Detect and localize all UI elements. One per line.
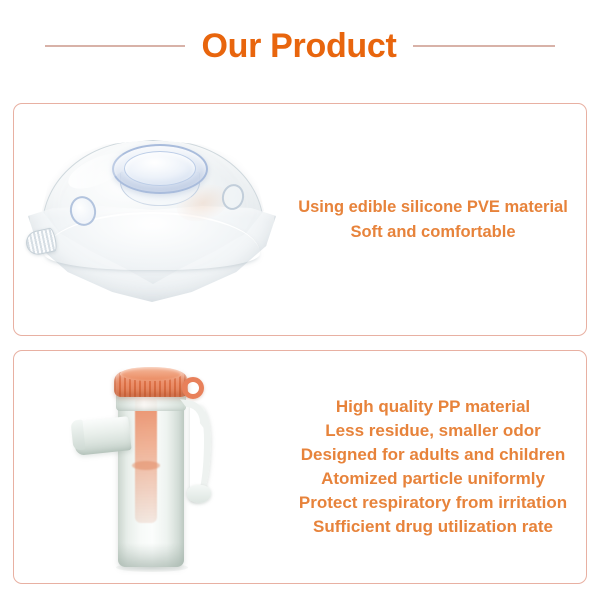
feature-line: High quality PP material	[286, 395, 580, 419]
product-image-mask	[14, 104, 286, 335]
face-mask-illustration	[26, 132, 278, 310]
feature-line: Designed for adults and children	[286, 443, 580, 467]
feature-line: Atomized particle uniformly	[286, 467, 580, 491]
page-header: Our Product	[0, 20, 600, 72]
feature-line: Soft and comfortable	[286, 220, 580, 245]
mask-inlet-port-inner	[124, 151, 196, 186]
product-panel-mask: Using edible silicone PVE material Soft …	[13, 103, 587, 336]
cup-base	[118, 543, 184, 567]
product-features-mask: Using edible silicone PVE material Soft …	[286, 195, 586, 245]
feature-line: Protect respiratory from irritation	[286, 491, 580, 515]
cup-hook-tip	[187, 485, 211, 503]
cup-cap-ring-tab	[182, 377, 204, 399]
cup-cap-top	[120, 367, 182, 381]
cup-inner-ring	[132, 461, 160, 470]
cup-hook-clip	[176, 401, 222, 507]
product-panel-nebulizer-cup: High quality PP material Less residue, s…	[13, 350, 587, 584]
page-title: Our Product	[201, 29, 396, 63]
feature-line: Using edible silicone PVE material	[286, 195, 580, 220]
product-showcase-page: Our Product Using edible silicone PVE ma…	[0, 0, 600, 600]
product-image-nebulizer-cup	[14, 351, 286, 583]
product-features-nebulizer-cup: High quality PP material Less residue, s…	[286, 395, 586, 539]
title-rule-left-icon	[45, 45, 185, 47]
feature-line: Sufficient drug utilization rate	[286, 515, 580, 539]
cup-hook-arm	[176, 399, 210, 431]
nebulizer-cup-illustration	[72, 365, 242, 573]
feature-line: Less residue, smaller odor	[286, 419, 580, 443]
title-rule-right-icon	[413, 45, 555, 47]
